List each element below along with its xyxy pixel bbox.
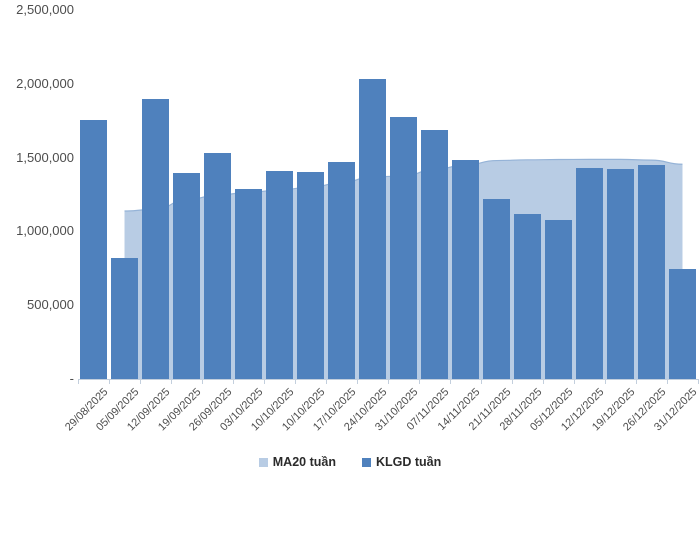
bar-klgd[interactable] <box>204 153 230 379</box>
bar-klgd[interactable] <box>483 199 509 379</box>
bar-klgd[interactable] <box>235 189 261 379</box>
bar-klgd[interactable] <box>514 214 540 379</box>
bar-klgd[interactable] <box>390 117 416 379</box>
legend-label-ma20: MA20 tuần <box>273 455 336 469</box>
bar-klgd[interactable] <box>173 173 199 379</box>
bar-klgd[interactable] <box>266 171 292 379</box>
y-axis-tick-label: 1,000,000 <box>0 224 74 237</box>
ma20-area-series <box>78 10 698 379</box>
chart-legend: MA20 tuần KLGD tuần <box>0 455 700 469</box>
bar-klgd[interactable] <box>576 168 602 379</box>
bar-klgd[interactable] <box>452 160 478 379</box>
bar-klgd[interactable] <box>142 99 168 379</box>
y-axis-tick-label: 2,500,000 <box>0 3 74 16</box>
legend-swatch-klgd <box>362 458 371 467</box>
y-axis: -500,0001,000,0001,500,0002,000,0002,500… <box>0 0 74 400</box>
bar-klgd[interactable] <box>328 162 354 379</box>
bar-klgd[interactable] <box>111 258 137 379</box>
bar-klgd[interactable] <box>297 172 323 379</box>
bar-klgd[interactable] <box>607 169 633 379</box>
y-axis-tick-label: 2,000,000 <box>0 77 74 90</box>
bar-klgd[interactable] <box>359 79 385 379</box>
legend-swatch-ma20 <box>259 458 268 467</box>
legend-item-ma20[interactable]: MA20 tuần <box>259 455 336 469</box>
legend-item-klgd[interactable]: KLGD tuần <box>362 455 441 469</box>
bar-klgd[interactable] <box>80 120 106 379</box>
y-axis-tick-label: 500,000 <box>0 298 74 311</box>
bar-klgd[interactable] <box>638 165 664 379</box>
y-axis-tick-label: 1,500,000 <box>0 151 74 164</box>
volume-chart: -500,0001,000,0001,500,0002,000,0002,500… <box>0 0 700 479</box>
legend-label-klgd: KLGD tuần <box>376 455 441 469</box>
bar-klgd[interactable] <box>545 220 571 379</box>
plot-area <box>78 10 698 379</box>
x-axis: 29/08/202505/09/202512/09/202519/09/2025… <box>0 384 700 446</box>
bar-klgd[interactable] <box>421 130 447 379</box>
bar-klgd[interactable] <box>669 269 695 379</box>
